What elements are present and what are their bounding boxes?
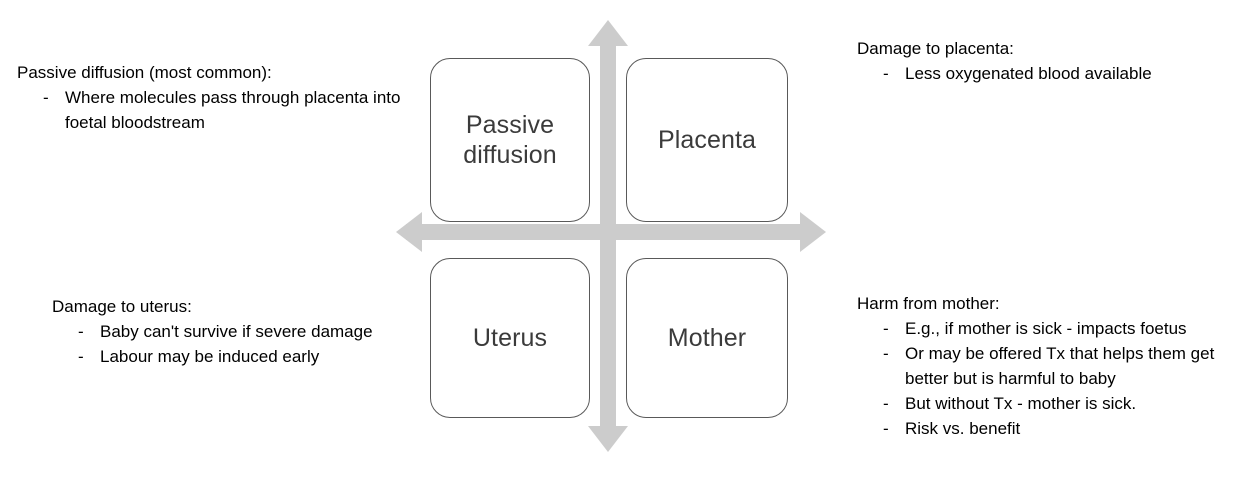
quadrant-box-label: Passivediffusion — [463, 110, 557, 170]
bullet-dash: - — [78, 344, 84, 369]
list-item-text: Or may be offered Tx that helps them get… — [905, 341, 1235, 391]
block-heading: Damage to placenta: — [857, 36, 1237, 61]
list-item: - E.g., if mother is sick - impacts foet… — [857, 316, 1242, 341]
quadrant-box-placenta[interactable]: Placenta — [626, 58, 788, 222]
list-item-text: Baby can't survive if severe damage — [100, 319, 373, 344]
list-item: - Baby can't survive if severe damage — [52, 319, 412, 344]
bullet-dash: - — [883, 391, 889, 416]
list-item-text: Less oxygenated blood available — [905, 61, 1152, 86]
block-bullet-list: - Less oxygenated blood available — [857, 61, 1237, 86]
block-bullet-list: - Baby can't survive if severe damage - … — [52, 319, 412, 369]
block-heading: Harm from mother: — [857, 291, 1242, 316]
list-item: - Less oxygenated blood available — [857, 61, 1237, 86]
block-heading: Passive diffusion (most common): — [17, 60, 417, 85]
list-item: - Where molecules pass through placenta … — [17, 85, 417, 135]
block-bullet-list: - Where molecules pass through placenta … — [17, 85, 417, 135]
list-item: - Or may be offered Tx that helps them g… — [857, 341, 1242, 391]
quadrant-box-label: Mother — [668, 323, 746, 353]
bullet-dash: - — [883, 341, 889, 366]
quadrant-box-uterus[interactable]: Uterus — [430, 258, 590, 418]
text-block-damage-placenta: Damage to placenta: - Less oxygenated bl… — [857, 36, 1237, 86]
block-bullet-list: - E.g., if mother is sick - impacts foet… — [857, 316, 1242, 441]
block-heading: Damage to uterus: — [52, 294, 412, 319]
quadrant-diagram: Passivediffusion Placenta Uterus Mother — [396, 20, 826, 452]
slide-canvas: Passive diffusion (most common): - Where… — [0, 0, 1242, 484]
list-item: - Risk vs. benefit — [857, 416, 1242, 441]
list-item-text: Where molecules pass through placenta in… — [65, 85, 405, 135]
quadrant-box-mother[interactable]: Mother — [626, 258, 788, 418]
bullet-dash: - — [883, 316, 889, 341]
list-item-text: Labour may be induced early — [100, 344, 319, 369]
bullet-dash: - — [78, 319, 84, 344]
bullet-dash: - — [883, 416, 889, 441]
quadrant-box-label: Placenta — [658, 125, 756, 155]
bullet-dash: - — [883, 61, 889, 86]
list-item-text: Risk vs. benefit — [905, 416, 1235, 441]
quadrant-box-passive-diffusion[interactable]: Passivediffusion — [430, 58, 590, 222]
list-item: - Labour may be induced early — [52, 344, 412, 369]
list-item-text: E.g., if mother is sick - impacts foetus — [905, 316, 1235, 341]
text-block-harm-mother: Harm from mother: - E.g., if mother is s… — [857, 291, 1242, 441]
bullet-dash: - — [43, 85, 49, 110]
list-item: - But without Tx - mother is sick. — [857, 391, 1242, 416]
list-item-text: But without Tx - mother is sick. — [905, 391, 1235, 416]
text-block-passive-diffusion: Passive diffusion (most common): - Where… — [17, 60, 417, 135]
text-block-damage-uterus: Damage to uterus: - Baby can't survive i… — [52, 294, 412, 369]
quadrant-box-label: Uterus — [473, 323, 547, 353]
